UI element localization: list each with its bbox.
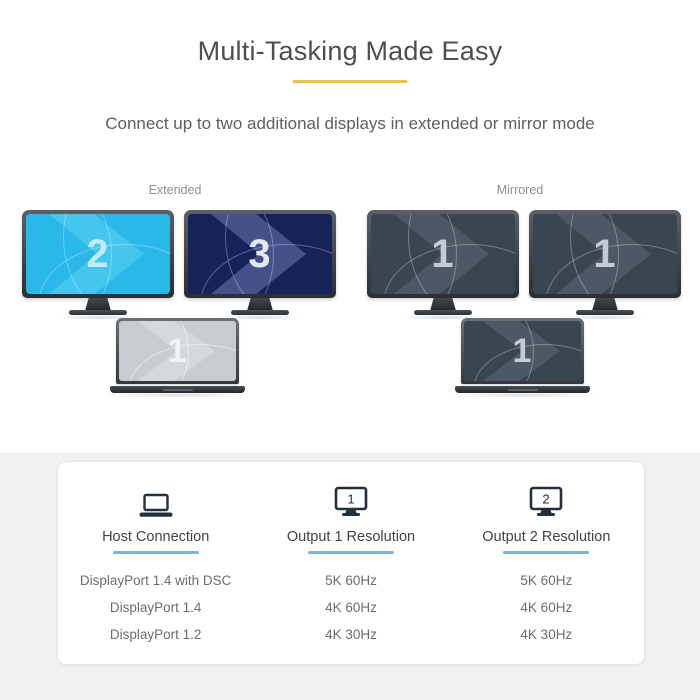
laptop-screen: 1 [464, 321, 581, 381]
monitor-screen: 3 [188, 214, 332, 294]
laptop-lid: 1 [116, 318, 239, 384]
spec-column-header: Output 2 Resolution [449, 529, 644, 545]
monitor-cyan: 2 [22, 210, 174, 298]
table-cell: 5K 60Hz [449, 567, 644, 594]
spec-column-underline [503, 551, 589, 554]
monitor-screen: 1 [533, 214, 677, 294]
screen-number: 3 [188, 214, 332, 294]
screen-number: 2 [26, 214, 170, 294]
laptop-icon [58, 478, 253, 520]
infographic-page: Multi-Tasking Made Easy Connect up to tw… [0, 0, 700, 700]
table-cell: 4K 60Hz [449, 594, 644, 621]
table-cell: 5K 60Hz [253, 567, 448, 594]
table-cell: DisplayPort 1.2 [58, 621, 253, 648]
monitor-bezel: 1 [529, 210, 681, 298]
monitor-screen: 1 [371, 214, 515, 294]
page-subtitle: Connect up to two additional displays in… [0, 114, 700, 134]
page-title: Multi-Tasking Made Easy [0, 36, 700, 67]
table-cell: DisplayPort 1.4 [58, 594, 253, 621]
laptop-slate: 1 [455, 318, 590, 393]
monitor-bezel: 1 [367, 210, 519, 298]
spec-column-host-connection: Host Connection [58, 478, 253, 554]
spec-column-header: Host Connection [58, 529, 253, 545]
laptop-shadow [445, 392, 600, 398]
monitor-icon: 2 [449, 478, 644, 520]
laptop-shadow [100, 392, 255, 398]
monitor-icon: 1 [253, 478, 448, 520]
spec-column-underline [308, 551, 394, 554]
table-cell: 4K 30Hz [449, 621, 644, 648]
monitor-bezel: 3 [184, 210, 336, 298]
group-label-extended: Extended [85, 183, 265, 197]
monitor-slate-left: 1 [367, 210, 519, 298]
table-row: DisplayPort 1.4 with DSC 5K 60Hz 5K 60Hz [58, 567, 644, 594]
spec-column-output-2: 2 Output 2 Resolution [449, 478, 644, 554]
screen-number: 1 [371, 214, 515, 294]
monitor-bezel: 2 [22, 210, 174, 298]
spec-column-underline [113, 551, 199, 554]
table-cell: DisplayPort 1.4 with DSC [58, 567, 253, 594]
screen-number: 1 [119, 321, 236, 381]
spec-table-card: Host Connection 1 Output 1 Resolution [57, 461, 645, 665]
table-cell: 4K 60Hz [253, 594, 448, 621]
monitor-screen: 2 [26, 214, 170, 294]
laptop-lid: 1 [461, 318, 584, 384]
screen-number: 1 [533, 214, 677, 294]
monitor-icon-number: 1 [347, 492, 354, 507]
group-label-mirrored: Mirrored [430, 183, 610, 197]
spec-table-body: DisplayPort 1.4 with DSC 5K 60Hz 5K 60Hz… [58, 567, 644, 648]
table-row: DisplayPort 1.4 4K 60Hz 4K 60Hz [58, 594, 644, 621]
spec-column-header: Output 1 Resolution [253, 529, 448, 545]
spec-table-header-row: Host Connection 1 Output 1 Resolution [58, 462, 644, 554]
spec-column-output-1: 1 Output 1 Resolution [253, 478, 448, 554]
table-row: DisplayPort 1.2 4K 30Hz 4K 30Hz [58, 621, 644, 648]
laptop-screen: 1 [119, 321, 236, 381]
monitor-slate-right: 1 [529, 210, 681, 298]
laptop-trackpad-notch [163, 389, 193, 391]
title-underline-accent [293, 80, 408, 83]
screen-number: 1 [464, 321, 581, 381]
monitor-icon-number: 2 [543, 492, 550, 507]
monitor-navy: 3 [184, 210, 336, 298]
laptop-gray: 1 [110, 318, 245, 393]
display-arrangement-diagram: 2 3 [0, 200, 700, 400]
laptop-trackpad-notch [508, 389, 538, 391]
table-cell: 4K 30Hz [253, 621, 448, 648]
